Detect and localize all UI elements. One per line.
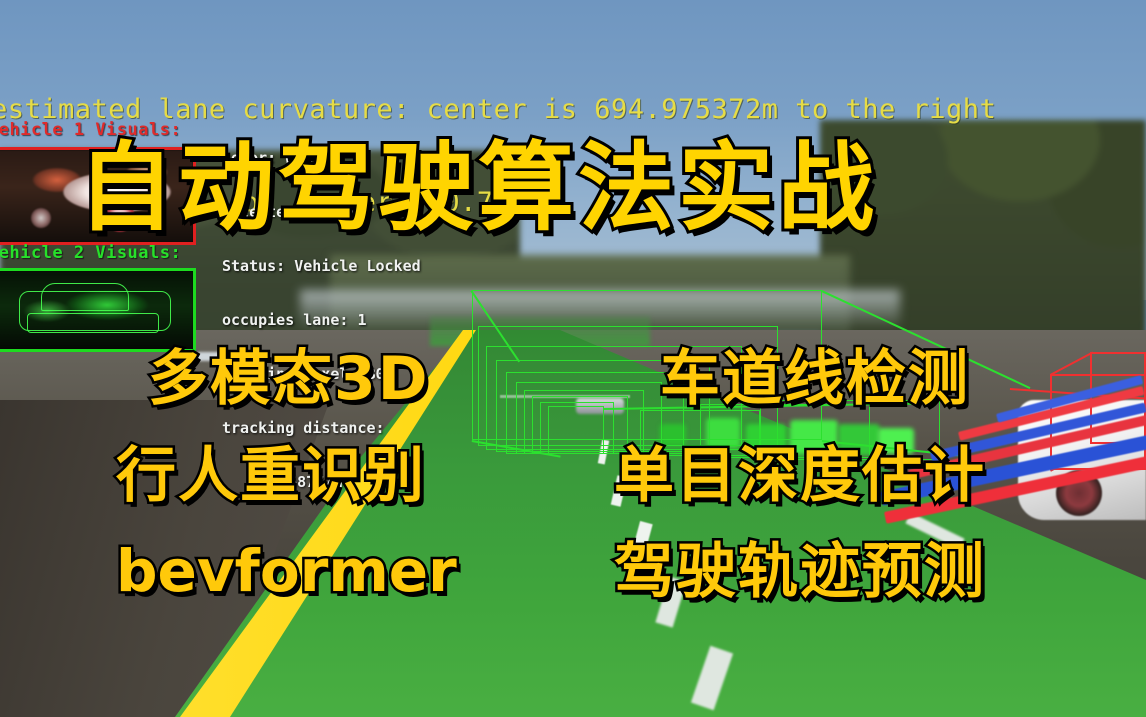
- topic-left-1: 多模态3D: [148, 349, 430, 409]
- topic-left-2: 行人重识别: [116, 446, 426, 506]
- vehicle-2-edge-outline: [27, 313, 159, 333]
- hud-status-line: Status: Vehicle Locked: [222, 257, 522, 275]
- vehicle-2-edge-outline: [41, 283, 129, 311]
- vehicle-2-label: Vehicle 2 Visuals:: [0, 243, 181, 263]
- hud-lane-line: occupies lane: 1: [222, 311, 522, 329]
- video-thumbnail: estimated lane curvature: center is 694.…: [0, 0, 1146, 717]
- vehicle-1-wheel-rear: [31, 208, 51, 228]
- topic-right-2: 单目深度估计: [614, 446, 986, 506]
- vehicle-2-visual-panel: [0, 268, 196, 352]
- hud-distance-label: tracking distance:: [222, 419, 522, 437]
- topic-left-3: bevformer: [116, 542, 457, 600]
- topic-right-3: 驾驶轨迹预测: [614, 542, 986, 602]
- bbox-3d-green: [548, 406, 604, 454]
- page-title: 自动驾驶算法实战: [78, 140, 878, 236]
- topic-right-1: 车道线检测: [660, 349, 970, 409]
